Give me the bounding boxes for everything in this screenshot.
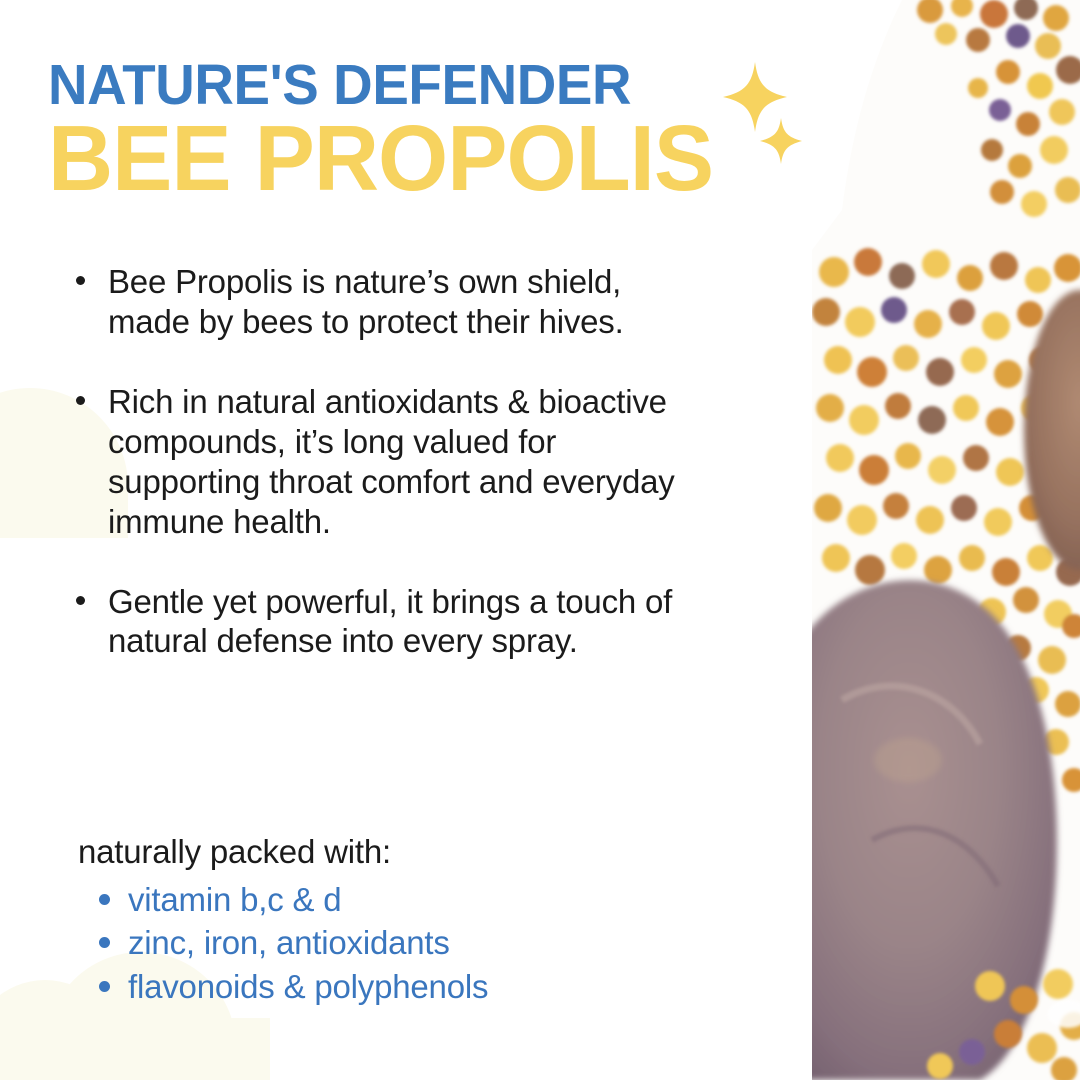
list-item: vitamin b,c & d <box>97 878 726 922</box>
list-item: Rich in natural antioxidants & bioactive… <box>66 382 706 542</box>
list-item: flavonoids & polyphenols <box>97 965 726 1009</box>
ingredient-text: flavonoids & polyphenols <box>128 968 488 1005</box>
bullet-dot-icon <box>76 276 85 285</box>
poster-canvas: NATURE'S DEFENDER BEE PROPOLIS Bee Propo… <box>0 0 1080 1080</box>
bullet-dot-icon <box>99 937 110 948</box>
bullet-dot-icon <box>76 396 85 405</box>
text-column: NATURE'S DEFENDER BEE PROPOLIS Bee Propo… <box>0 0 812 1080</box>
ingredient-text: vitamin b,c & d <box>128 881 341 918</box>
bullet-dot-icon <box>99 981 110 992</box>
bullet-dot-icon <box>99 894 110 905</box>
list-item: zinc, iron, antioxidants <box>97 921 726 965</box>
ingredient-text: zinc, iron, antioxidants <box>128 924 450 961</box>
list-item: Gentle yet powerful, it brings a touch o… <box>66 582 706 662</box>
bee-pollen-photo <box>812 0 1080 1080</box>
packed-with-label: naturally packed with: <box>66 832 726 872</box>
packed-with-section: naturally packed with: vitamin b,c & d z… <box>66 832 726 1008</box>
page-title: BEE PROPOLIS <box>48 116 766 202</box>
ingredient-list: vitamin b,c & d zinc, iron, antioxidants… <box>66 878 726 1009</box>
list-item: Bee Propolis is nature’s own shield, mad… <box>66 262 706 342</box>
benefit-bullet-list: Bee Propolis is nature’s own shield, mad… <box>66 262 706 661</box>
bullet-dot-icon <box>76 596 85 605</box>
bullet-text: Rich in natural antioxidants & bioactive… <box>108 383 675 540</box>
bullet-text: Bee Propolis is nature’s own shield, mad… <box>108 263 624 340</box>
sparkle-icon <box>760 118 802 164</box>
headline-block: NATURE'S DEFENDER BEE PROPOLIS <box>48 58 788 201</box>
bullet-text: Gentle yet powerful, it brings a touch o… <box>108 583 672 660</box>
